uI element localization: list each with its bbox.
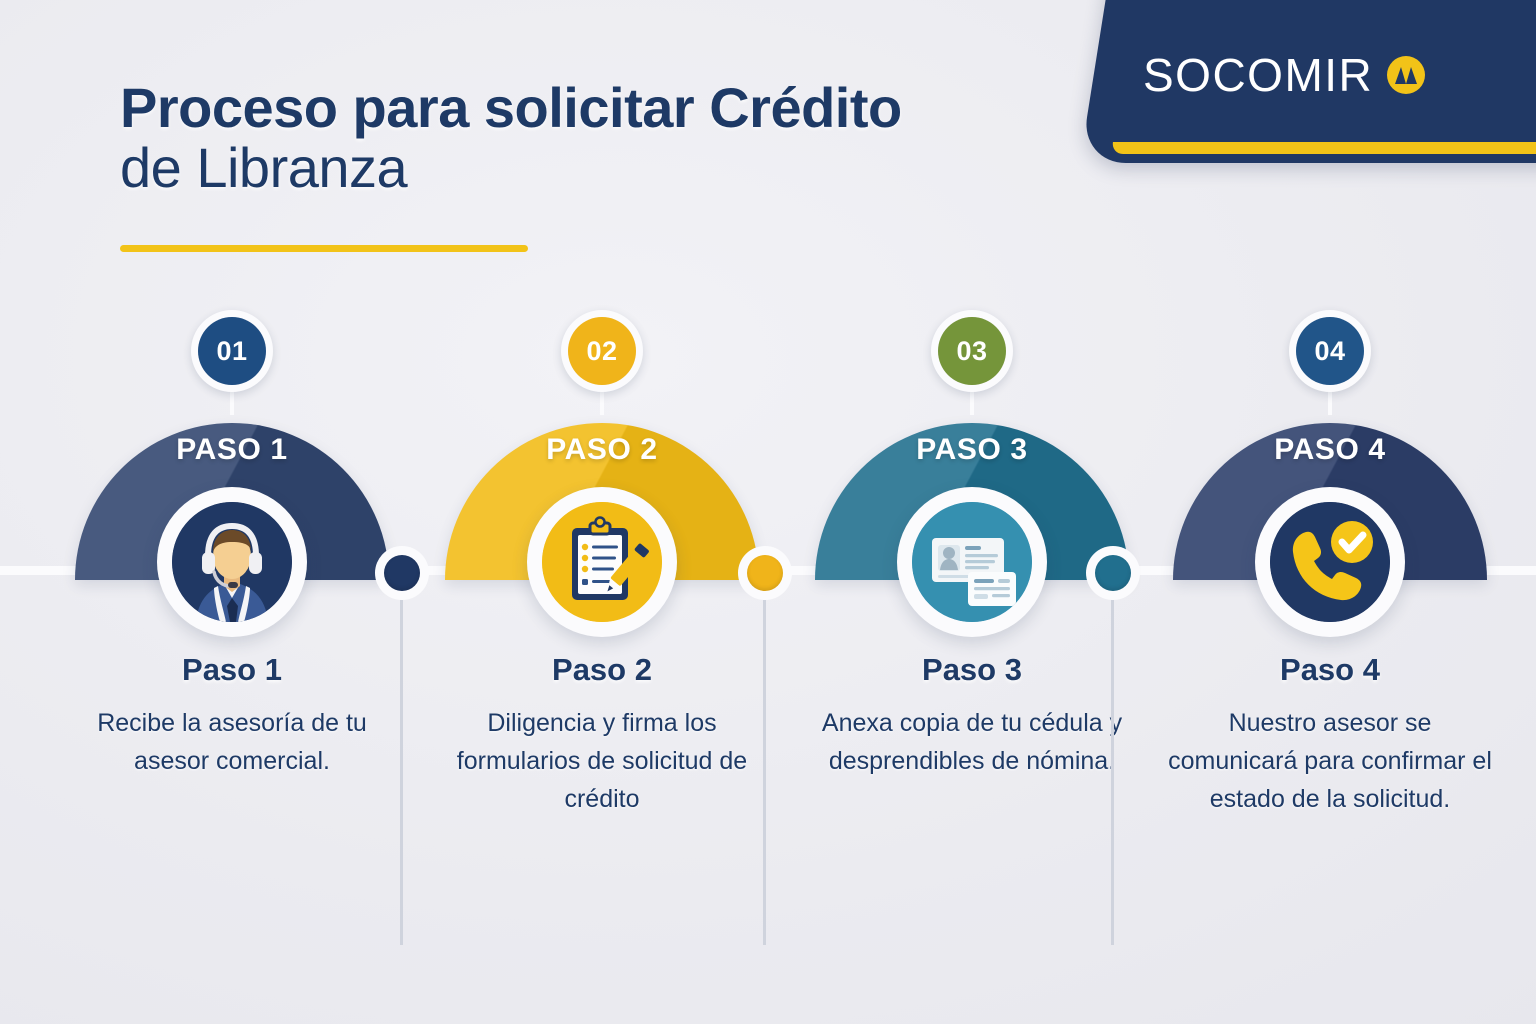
step-dome-label-1: PASO 1 [67,433,397,467]
title-underline-rule [120,245,528,252]
phone-check-confirm-icon [1270,502,1390,622]
support-agent-headset-icon [172,502,292,622]
page-title: Proceso para solicitar Crédito de Libran… [120,78,1060,199]
divider-line-3 [1111,600,1114,945]
step-description-4: Nuestro asesor se comunicará para confir… [1165,704,1495,818]
step-badge-2[interactable]: 02 [561,310,643,392]
step-description-3: Anexa copia de tu cédula y desprendibles… [807,704,1137,780]
step-dome-label-3: PASO 3 [807,433,1137,467]
title-line-2: de Libranza [120,138,1060,198]
step-heading-4: Paso 4 [1165,652,1495,688]
logo-plate-accent-bar [1111,142,1536,154]
step-badge-number-1: 01 [198,317,266,385]
connector-dot-3-4 [1086,546,1140,600]
socomir-m-mark-icon [1387,56,1425,94]
connector-dot-1-2 [375,546,429,600]
divider-line-1 [400,600,403,945]
step-heading-3: Paso 3 [807,652,1137,688]
step-icon-ring-3[interactable] [897,487,1047,637]
step-description-1: Recibe la asesoría de tu asesor comercia… [67,704,397,780]
brand-logo: SOCOMIR [1143,52,1425,98]
step-badge-number-2: 02 [568,317,636,385]
step-badge-1[interactable]: 01 [191,310,273,392]
step-dome-label-2: PASO 2 [437,433,767,467]
step-dome-label-4: PASO 4 [1165,433,1495,467]
step-heading-2: Paso 2 [437,652,767,688]
logo-wordmark: SOCOMIR [1143,52,1373,98]
connector-dot-2-3 [738,546,792,600]
step-description-2: Diligencia y firma los formularios de so… [437,704,767,818]
connector-dot-inner-2 [747,555,783,591]
step-badge-number-3: 03 [938,317,1006,385]
step-badge-4[interactable]: 04 [1289,310,1371,392]
step-badge-number-4: 04 [1296,317,1364,385]
step-icon-ring-1[interactable] [157,487,307,637]
step-badge-3[interactable]: 03 [931,310,1013,392]
infographic-canvas: SOCOMIR Proceso para solicitar Crédito d… [0,0,1536,1024]
id-card-document-icon [912,502,1032,622]
step-heading-1: Paso 1 [67,652,397,688]
title-line-1: Proceso para solicitar Crédito [120,78,1060,138]
clipboard-pencil-form-icon [542,502,662,622]
connector-dot-inner-3 [1095,555,1131,591]
divider-line-2 [763,600,766,945]
step-icon-ring-4[interactable] [1255,487,1405,637]
connector-dot-inner-1 [384,555,420,591]
step-icon-ring-2[interactable] [527,487,677,637]
